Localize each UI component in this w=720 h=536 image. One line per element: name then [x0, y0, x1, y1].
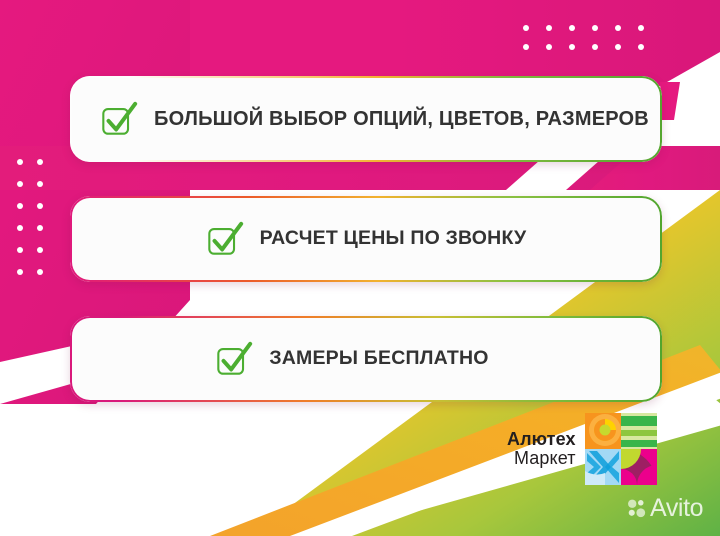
checkmark-box-icon	[100, 100, 138, 138]
brand-name-top: Алютех	[507, 430, 576, 449]
avito-label: Avito	[650, 496, 703, 521]
checkmark-box-icon	[206, 220, 244, 258]
feature-card-label: БОЛЬШОЙ ВЫБОР ОПЦИЙ, ЦВЕТОВ, РАЗМЕРОВ	[154, 109, 649, 129]
feature-card-options[interactable]: БОЛЬШОЙ ВЫБОР ОПЦИЙ, ЦВЕТОВ, РАЗМЕРОВ	[70, 76, 662, 162]
alutech-grid-mark-icon	[585, 413, 657, 485]
avito-dots-icon	[627, 499, 646, 518]
brand-logo-wordmark: Алютех Маркет	[507, 430, 576, 468]
brand-name-bottom: Маркет	[514, 449, 576, 468]
feature-card-label: РАСЧЕТ ЦЕНЫ ПО ЗВОНКУ	[260, 229, 527, 249]
checkmark-box-icon	[215, 340, 253, 378]
feature-card-measure[interactable]: ЗАМЕРЫ БЕСПЛАТНО	[70, 316, 662, 402]
brand-logo[interactable]: Алютех Маркет	[507, 413, 657, 485]
feature-card-price[interactable]: РАСЧЕТ ЦЕНЫ ПО ЗВОНКУ	[70, 196, 662, 282]
feature-card-label: ЗАМЕРЫ БЕСПЛАТНО	[269, 349, 488, 369]
promo-banner: БОЛЬШОЙ ВЫБОР ОПЦИЙ, ЦВЕТОВ, РАЗМЕРОВ РА…	[0, 0, 720, 536]
avito-watermark: Avito	[627, 496, 703, 521]
